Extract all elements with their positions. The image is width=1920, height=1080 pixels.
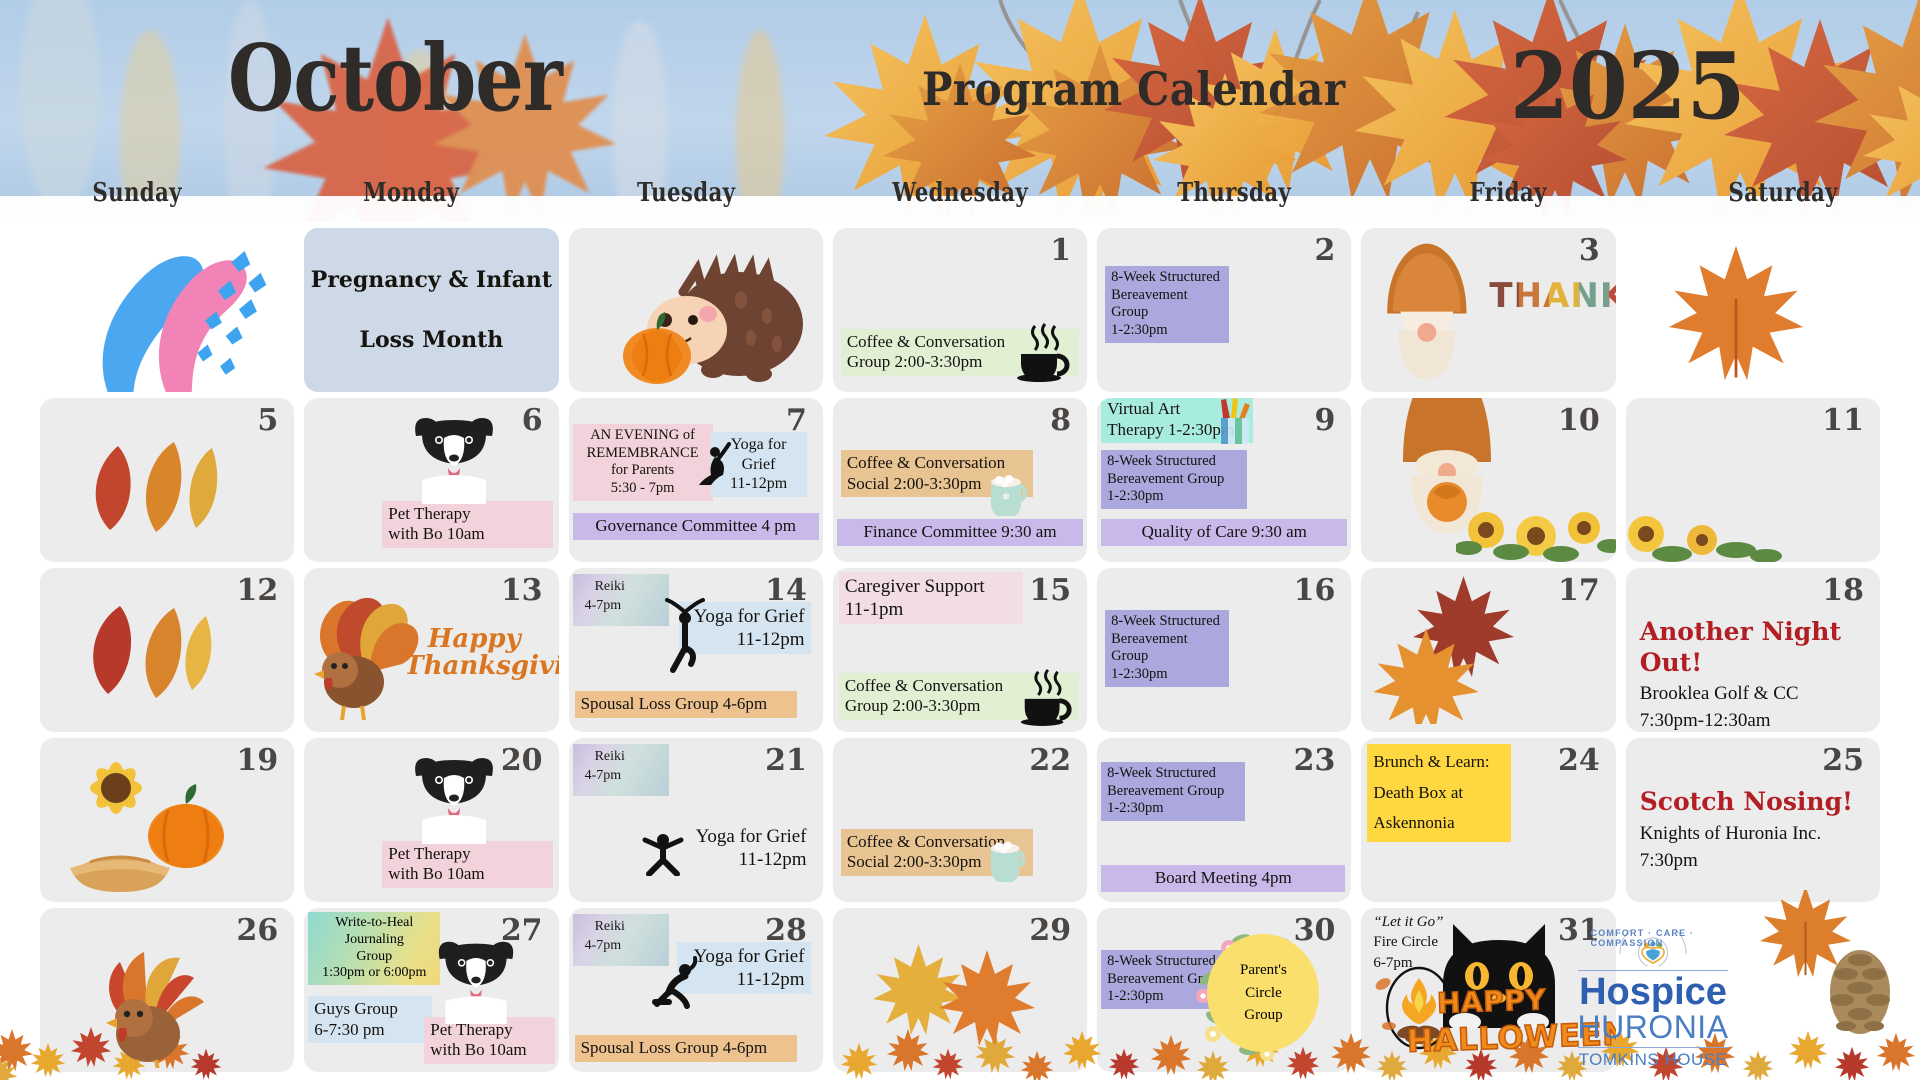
day-number: 29	[1029, 914, 1071, 947]
calendar-day-14[interactable]: 14 Reiki 4-7pm Yoga for Grief 11-12pm Sp…	[569, 568, 823, 732]
calendar-day-20[interactable]: 20 Pet Therapy with Bo 10am	[304, 738, 558, 902]
event-time: 11-12pm	[683, 848, 807, 871]
calendar-day-19[interactable]: 19	[40, 738, 294, 902]
calendar-day-3[interactable]: 3 THANKFUL	[1361, 228, 1615, 392]
day-number: 9	[1315, 404, 1336, 437]
event-title-line2: Death Box at	[1373, 778, 1505, 809]
maple-leaves-icon	[1371, 574, 1561, 724]
calendar-grid-wrapper: Pregnancy & Infant Loss Month	[0, 222, 1920, 1080]
day-number: 26	[237, 914, 279, 947]
event-time: with Bo 10am	[388, 524, 546, 545]
event-reiki[interactable]: Reiki 4-7pm	[573, 744, 669, 796]
event-title: Coffee & Conversation	[847, 332, 1073, 353]
event-guys-group[interactable]: Guys Group 6-7:30 pm	[308, 996, 432, 1043]
calendar-day-5[interactable]: 5	[40, 398, 294, 562]
day-number: 15	[1029, 574, 1071, 607]
day-number: 1	[1050, 234, 1071, 267]
day-number: 11	[1822, 404, 1864, 437]
awareness-line-1: Pregnancy & Infant	[311, 267, 552, 293]
logo-name-primary: Hospice	[1579, 973, 1727, 1011]
event-quality-of-care[interactable]: Quality of Care 9:30 am	[1101, 519, 1347, 546]
event-title: Coffee & Conversation	[847, 453, 1027, 474]
day-number: 25	[1822, 744, 1864, 777]
event-title-line1: “Let it Go”	[1373, 913, 1465, 931]
calendar-day-28[interactable]: 28 Reiki 4-7pm Yoga for Grief 11-12pm Sp…	[569, 908, 823, 1072]
calendar-cell-decor-maple-w1-sat	[1626, 228, 1880, 392]
calendar-day-7[interactable]: 7 AN EVENING of REMEMBRANCE for Parents …	[569, 398, 823, 562]
dow-tuesday: Tuesday	[573, 178, 798, 220]
event-title: Spousal Loss Group 4-6pm	[581, 694, 791, 715]
event-time: 6-7pm	[1373, 954, 1465, 972]
calendar-day-9[interactable]: 9 Virtual Art Therapy 1-2:30pm 8-Week St…	[1097, 398, 1351, 562]
event-time: 1:30pm or 6:00pm	[313, 965, 435, 982]
dow-thursday: Thursday	[1122, 178, 1347, 220]
event-title-line1: Write-to-Heal	[313, 915, 435, 932]
event-title: Pet Therapy	[430, 1020, 548, 1041]
fall-leaves-icon	[64, 586, 224, 704]
event-title-line1: Parent's	[1240, 959, 1287, 982]
event-title-line1: 8-Week Structured	[1107, 953, 1225, 971]
event-title-line2: Therapy 1-2:30pm	[1107, 420, 1247, 441]
day-number: 17	[1558, 574, 1600, 607]
turkey-icon	[74, 918, 224, 1068]
event-title: Coffee & Conversation	[847, 832, 1027, 853]
event-time: 4-7pm	[581, 937, 661, 956]
event-reiki[interactable]: Reiki 4-7pm	[573, 914, 669, 966]
event-time: 4-7pm	[581, 767, 661, 786]
day-number: 24	[1558, 744, 1600, 777]
calendar-day-22[interactable]: 22 Coffee & Conversation Social 2:00-3:3…	[833, 738, 1087, 902]
calendar-day-6[interactable]: 6 Pet Therapy with Bo 10am	[304, 398, 558, 562]
calendar-day-26[interactable]: 26	[40, 908, 294, 1072]
event-governance-committee[interactable]: Governance Committee 4 pm	[573, 513, 819, 540]
day-number: 16	[1294, 574, 1336, 607]
event-pet-therapy[interactable]: Pet Therapy with Bo 10am	[382, 841, 552, 888]
event-title: Reiki	[581, 578, 661, 597]
event-time: 1-2:30pm	[1111, 666, 1223, 684]
calendar-day-15[interactable]: 15 Caregiver Support 11-1pm Coffee & Con…	[833, 568, 1087, 732]
event-coffee-conversation-group[interactable]: Coffee & Conversation Group 2:00-3:30pm	[841, 329, 1079, 376]
dow-monday: Monday	[299, 178, 524, 220]
event-title-line2: Journaling	[313, 932, 435, 949]
event-title-line2: Fire Circle	[1373, 933, 1465, 951]
event-title-line2: Bereavement Group	[1111, 287, 1223, 322]
calendar-day-30[interactable]: 30 8-Week Structured Bereavement Group 1…	[1097, 908, 1351, 1072]
thankful-decor-text: THANKFUL	[1489, 276, 1615, 316]
event-title-line2: REMEMBRANCE	[579, 445, 707, 463]
event-time: Group 2:00-3:30pm	[847, 352, 1073, 373]
day-number: 3	[1579, 234, 1600, 267]
event-time: 11-12pm	[685, 628, 805, 651]
day-number: 2	[1315, 234, 1336, 267]
event-evening-of-remembrance[interactable]: AN EVENING of REMEMBRANCE for Parents 5:…	[573, 424, 713, 501]
event-time: 1-2:30pm	[1107, 488, 1241, 506]
maple-leaf-icon	[1666, 238, 1806, 388]
day-number: 18	[1822, 574, 1864, 607]
event-title-line2: Bereavement Group	[1107, 783, 1239, 801]
day-number: 23	[1294, 744, 1336, 777]
awareness-banner-cell: Pregnancy & Infant Loss Month	[304, 228, 558, 392]
event-title-line3: Group	[1244, 1004, 1282, 1027]
event-pet-therapy[interactable]: Pet Therapy with Bo 10am	[382, 501, 552, 548]
event-finance-committee[interactable]: Finance Committee 9:30 am	[837, 519, 1083, 546]
gnome-thankful-icon	[1361, 238, 1487, 392]
calendar-day-12[interactable]: 12	[40, 568, 294, 732]
event-time: 6-7:30 pm	[314, 1020, 426, 1041]
happy-thanksgiving-decor-text: Happy Thanksgiving	[404, 626, 544, 681]
calendar-header-banner: October Program Calendar 2025 Sunday Mon…	[0, 0, 1920, 222]
event-headline: Scotch Nosing!	[1640, 787, 1866, 818]
calendar-day-16[interactable]: 16 8-Week Structured Bereavement Group 1…	[1097, 568, 1351, 732]
dow-wednesday: Wednesday	[848, 178, 1073, 220]
border-collie-dog-icon	[408, 752, 500, 844]
event-time: 4-7pm	[581, 597, 661, 616]
event-write-to-heal-journaling[interactable]: Write-to-Heal Journaling Group 1:30pm or…	[308, 912, 440, 985]
calendar-day-17[interactable]: 17	[1361, 568, 1615, 732]
calendar-day-24[interactable]: 24 Brunch & Learn: Death Box at Askennon…	[1361, 738, 1615, 902]
event-title: Coffee & Conversation	[845, 676, 1073, 697]
border-collie-dog-icon	[408, 412, 500, 504]
gnome-sunflowers-icon	[1361, 398, 1535, 554]
calendar-day-21[interactable]: 21 Reiki 4-7pm Yoga for Grief 11-12pm	[569, 738, 823, 902]
event-title-line3: Group	[313, 949, 435, 966]
calendar-day-8[interactable]: 8 Coffee & Conversation Social 2:00-3:30…	[833, 398, 1087, 562]
event-8-week-bereavement-group[interactable]: 8-Week Structured Bereavement Group 1-2:…	[1105, 610, 1229, 687]
day-number: 8	[1050, 404, 1071, 437]
calendar-day-23[interactable]: 23 8-Week Structured Bereavement Group 1…	[1097, 738, 1351, 902]
event-title-line2: Bereavement Group	[1111, 631, 1223, 666]
pumpkin-pie-sunflower-icon	[54, 744, 254, 900]
event-time: 7:30pm	[1640, 849, 1866, 872]
event-title: Spousal Loss Group 4-6pm	[581, 1038, 791, 1059]
fall-leaves-icon	[865, 936, 1045, 1056]
event-time: Social 2:00-3:30pm	[847, 474, 1027, 495]
event-title: Pet Therapy	[388, 504, 546, 525]
event-title-line1: AN EVENING of	[579, 427, 707, 445]
event-title-line1: 8-Week Structured	[1111, 269, 1223, 287]
logo-tagline: COMFORT · CARE · COMPASSION	[1591, 928, 1716, 948]
sunflower-cluster-icon	[1456, 482, 1616, 562]
calendar-day-13[interactable]: 13 Happy Thanksgiving	[304, 568, 558, 732]
event-coffee-conversation-social[interactable]: Coffee & Conversation Social 2:00-3:30pm	[841, 829, 1033, 876]
event-title: Caregiver Support	[845, 575, 1017, 598]
dow-friday: Friday	[1396, 178, 1621, 220]
page-title-month: October	[228, 32, 562, 124]
event-spousal-loss-group[interactable]: Spousal Loss Group 4-6pm	[575, 691, 797, 718]
event-title: Reiki	[581, 748, 661, 767]
event-location: Knights of Huronia Inc.	[1640, 822, 1866, 845]
day-number: 7	[786, 404, 807, 437]
calendar-day-1[interactable]: 1 Coffee & Conversation Group 2:00-3:30p…	[833, 228, 1087, 392]
event-time: 7:30pm-12:30am	[1640, 709, 1866, 732]
event-coffee-conversation-group[interactable]: Coffee & Conversation Group 2:00-3:30pm	[839, 673, 1079, 720]
autumn-leaves-icon	[70, 422, 230, 542]
event-title-line1: 8-Week Structured	[1107, 453, 1241, 471]
event-scotch-nosing[interactable]: Scotch Nosing! Knights of Huronia Inc. 7…	[1634, 784, 1872, 875]
logo-name-secondary: HURONIA	[1577, 1011, 1728, 1045]
event-headline: Another Night Out!	[1640, 617, 1866, 678]
logo-name-tertiary: TOMKINS HOUSE	[1579, 1050, 1728, 1070]
event-reiki[interactable]: Reiki 4-7pm	[573, 574, 669, 626]
event-title: Yoga for Grief	[683, 825, 807, 848]
event-title-line1: 8-Week Structured	[1111, 613, 1223, 631]
day-of-week-header-row: Sunday Monday Tuesday Wednesday Thursday…	[0, 178, 1920, 220]
calendar-day-11[interactable]: 11	[1626, 398, 1880, 562]
pregnancy-infant-loss-month-banner: Pregnancy & Infant Loss Month	[304, 228, 558, 392]
event-time: 1-2:30pm	[1107, 800, 1239, 818]
day-number: 10	[1558, 404, 1600, 437]
calendar-day-27[interactable]: 27 Write-to-Heal Journaling Group 1:30pm…	[304, 908, 558, 1072]
event-location: Brooklea Golf & CC	[1640, 682, 1866, 705]
day-number: 13	[501, 574, 543, 607]
event-title: Pet Therapy	[388, 844, 546, 865]
event-time: Group 2:00-3:30pm	[845, 696, 1073, 717]
event-title-line2: Circle	[1245, 982, 1282, 1005]
calendar-day-10[interactable]: 10	[1361, 398, 1615, 562]
event-yoga-for-grief[interactable]: Yoga for Grief 11-12pm	[677, 822, 813, 874]
event-time: 5:30 - 7pm	[579, 480, 707, 498]
event-title: Quality of Care 9:30 am	[1107, 522, 1341, 543]
event-title: Yoga for Grief	[685, 605, 805, 628]
event-8-week-bereavement-group[interactable]: 8-Week Structured Bereavement Group 1-2:…	[1105, 266, 1229, 343]
event-pet-therapy[interactable]: Pet Therapy with Bo 10am	[424, 1017, 554, 1064]
calendar-day-29[interactable]: 29	[833, 908, 1087, 1072]
event-title-line3: for Parents	[579, 462, 707, 480]
event-brunch-and-learn[interactable]: Brunch & Learn: Death Box at Askennonia	[1367, 744, 1511, 842]
day-number: 21	[765, 744, 807, 777]
event-title: Finance Committee 9:30 am	[843, 522, 1077, 543]
pregnancy-infant-loss-ribbon-icon	[40, 234, 294, 392]
event-time: 11-12pm	[683, 968, 805, 991]
event-title-line2: Bereavement Group	[1107, 471, 1241, 489]
day-number: 22	[1029, 744, 1071, 777]
event-title-line2: Grief	[717, 455, 801, 475]
event-8-week-bereavement-group[interactable]: 8-Week Structured Bereavement Group 1-2:…	[1101, 762, 1245, 821]
day-number: 12	[237, 574, 279, 607]
event-title: Board Meeting 4pm	[1107, 868, 1339, 889]
event-title: Guys Group	[314, 999, 426, 1020]
event-title: Reiki	[581, 918, 661, 937]
day-number: 6	[522, 404, 543, 437]
event-time: with Bo 10am	[430, 1040, 548, 1061]
event-title-line1: Virtual Art	[1107, 399, 1247, 420]
page-title-year: 2025	[1510, 32, 1746, 140]
calendar-day-18[interactable]: 18 Another Night Out! Brooklea Golf & CC…	[1626, 568, 1880, 732]
event-virtual-art-therapy[interactable]: Virtual Art Therapy 1-2:30pm	[1101, 398, 1253, 443]
sunflower-decor-icon	[1626, 486, 1796, 562]
awareness-line-2: Loss Month	[360, 327, 504, 353]
event-title-line1: Brunch & Learn:	[1373, 747, 1505, 778]
event-yoga-for-grief[interactable]: Yoga for Grief 11-12pm	[677, 942, 811, 994]
hedgehog-pumpkin-icon	[591, 234, 821, 390]
calendar-cell-empty-w1-sun	[40, 228, 294, 392]
event-title: Yoga for Grief	[683, 945, 805, 968]
event-time: 11-12pm	[717, 474, 801, 494]
event-parents-circle-group[interactable]: Parent's Circle Group	[1207, 934, 1319, 1052]
border-collie-dog-icon	[432, 936, 520, 1024]
event-spousal-loss-group[interactable]: Spousal Loss Group 4-6pm	[575, 1035, 797, 1062]
event-caregiver-support[interactable]: Caregiver Support 11-1pm	[839, 572, 1023, 624]
day-number: 20	[501, 744, 543, 777]
event-yoga-for-grief[interactable]: Yoga for Grief 11-12pm	[679, 602, 811, 654]
dow-sunday: Sunday	[25, 178, 250, 220]
event-yoga-for-grief[interactable]: Yoga for Grief 11-12pm	[711, 432, 807, 497]
day-number: 14	[765, 574, 807, 607]
day-number: 28	[765, 914, 807, 947]
event-board-meeting[interactable]: Board Meeting 4pm	[1101, 865, 1345, 892]
page-title-program: Program Calendar	[922, 62, 1345, 116]
event-another-night-out[interactable]: Another Night Out! Brooklea Golf & CC 7:…	[1634, 614, 1872, 732]
day-number: 5	[257, 404, 278, 437]
hospice-huronia-logo: COMFORT · CARE · COMPASSION Hospice HURO…	[1520, 926, 1770, 1066]
event-time: 11-1pm	[845, 598, 1017, 621]
event-title: Governance Committee 4 pm	[579, 516, 813, 537]
event-time: Social 2:00-3:30pm	[847, 852, 1027, 873]
logo-divider-2	[1578, 1047, 1728, 1048]
calendar-day-25[interactable]: 25 Scotch Nosing! Knights of Huronia Inc…	[1626, 738, 1880, 902]
event-title-line3: Askennonia	[1373, 808, 1505, 839]
event-time: 1-2:30pm	[1111, 322, 1223, 340]
calendar-cell-decor-hedgehog	[569, 228, 823, 392]
event-time: with Bo 10am	[388, 864, 546, 885]
day-number: 27	[501, 914, 543, 947]
dow-saturday: Saturday	[1670, 178, 1895, 220]
event-8-week-bereavement-group[interactable]: 8-Week Structured Bereavement Group 1-2:…	[1101, 450, 1247, 509]
event-let-it-go-fire-circle[interactable]: “Let it Go” Fire Circle 6-7pm	[1367, 910, 1471, 975]
event-title-line1: 8-Week Structured	[1107, 765, 1239, 783]
day-number: 19	[237, 744, 279, 777]
calendar-day-2[interactable]: 2 8-Week Structured Bereavement Group 1-…	[1097, 228, 1351, 392]
day-number: 30	[1294, 914, 1336, 947]
event-coffee-conversation-social[interactable]: Coffee & Conversation Social 2:00-3:30pm	[841, 450, 1033, 497]
